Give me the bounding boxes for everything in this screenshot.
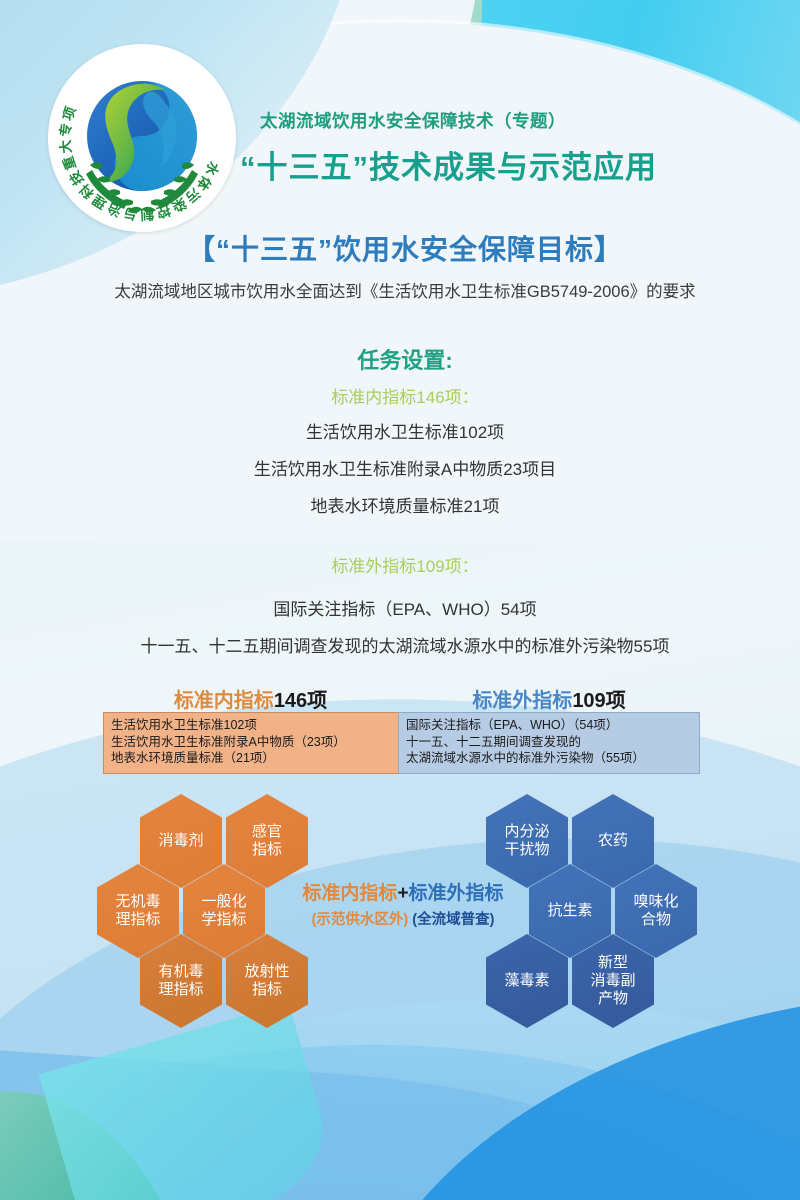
summary-right-heading: 标准外指标109项 (398, 684, 700, 713)
summary-box-outside-standard: 国际关注指标（EPA、WHO）（54项） 十一五、十二五期间调查发现的 太湖流域… (398, 712, 700, 774)
hex-label: 放射性指标 (244, 963, 289, 999)
main-title: “十三五”技术成果与示范应用 (240, 142, 760, 187)
formula-left-term: 标准内指标 (302, 883, 397, 904)
group1-line-1: 生活饮用水卫生标准102项 (40, 418, 770, 443)
hex-label: 一般化学指标 (201, 893, 246, 929)
hex-label: 农药 (598, 832, 628, 850)
group1-heading: 标准内指标146项： (40, 383, 770, 408)
formula-plus: + (397, 883, 408, 904)
group2-line-1: 国际关注指标（EPA、WHO）54项 (40, 595, 770, 620)
goal-description: 太湖流域地区城市饮用水全面达到《生活饮用水卫生标准GB5749-2006》的要求 (40, 278, 770, 302)
logo-emblem-icon: 水体污染控制与治理科技重大专项 (48, 44, 236, 232)
summary-right-heading-count: 109项 (572, 690, 625, 712)
hex-label: 嗅味化合物 (633, 893, 678, 929)
summary-left-heading: 标准内指标146项 (103, 684, 398, 713)
hex-label: 有机毒理指标 (158, 963, 203, 999)
summary-right-line-1: 国际关注指标（EPA、WHO）（54项） (406, 717, 693, 734)
summary-right-line-2: 十一五、十二五期间调查发现的 (406, 734, 693, 751)
goal-title: 【“十三五”饮用水安全保障目标】 (60, 228, 750, 268)
hex-label: 藻毒素 (504, 972, 549, 990)
summary-box-inside-standard: 生活饮用水卫生标准102项 生活饮用水卫生标准附录A中物质（23项） 地表水环境… (103, 712, 398, 774)
hex-label: 新型消毒副产物 (590, 954, 635, 1008)
group1-line-3: 地表水环境质量标准21项 (40, 492, 770, 517)
summary-left-line-3: 地表水环境质量标准（21项） (111, 750, 392, 767)
poster-root: 水体污染控制与治理科技重大专项 太湖流域饮用水安全保障技术（专题） “十三五”技… (0, 0, 800, 1200)
formula-notes: (示范供水区外) (全流域普查) (283, 908, 523, 929)
summary-left-heading-label: 标准内指标 (174, 690, 274, 712)
summary-left-line-2: 生活饮用水卫生标准附录A中物质（23项） (111, 734, 392, 751)
subject-line: 太湖流域饮用水安全保障技术（专题） (260, 108, 730, 133)
summary-left-line-1: 生活饮用水卫生标准102项 (111, 717, 392, 734)
summary-left-heading-count: 146项 (274, 690, 327, 712)
hex-label: 消毒剂 (158, 832, 203, 850)
summary-boxes: 生活饮用水卫生标准102项 生活饮用水卫生标准附录A中物质（23项） 地表水环境… (103, 712, 700, 774)
formula-right-term: 标准外指标 (409, 883, 504, 904)
formula-left-note: (示范供水区外) (312, 912, 409, 928)
summary-right-heading-label: 标准外指标 (472, 690, 572, 712)
hex-label: 内分泌干扰物 (504, 823, 549, 859)
summary-right-line-3: 太湖流域水源水中的标准外污染物（55项） (406, 750, 693, 767)
group2-heading: 标准外指标109项： (40, 552, 770, 577)
program-logo: 水体污染控制与治理科技重大专项 (48, 44, 236, 232)
formula-line: 标准内指标+标准外指标 (288, 878, 518, 905)
task-settings-heading: 任务设置: (40, 343, 770, 375)
hex-label: 抗生素 (547, 902, 592, 920)
group1-line-2: 生活饮用水卫生标准附录A中物质23项目 (40, 455, 770, 480)
formula-right-note: (全流域普查) (412, 912, 494, 928)
group2-line-2: 十一五、十二五期间调查发现的太湖流域水源水中的标准外污染物55项 (40, 632, 770, 657)
hex-label: 感官指标 (252, 823, 282, 859)
hex-label: 无机毒理指标 (115, 893, 160, 929)
